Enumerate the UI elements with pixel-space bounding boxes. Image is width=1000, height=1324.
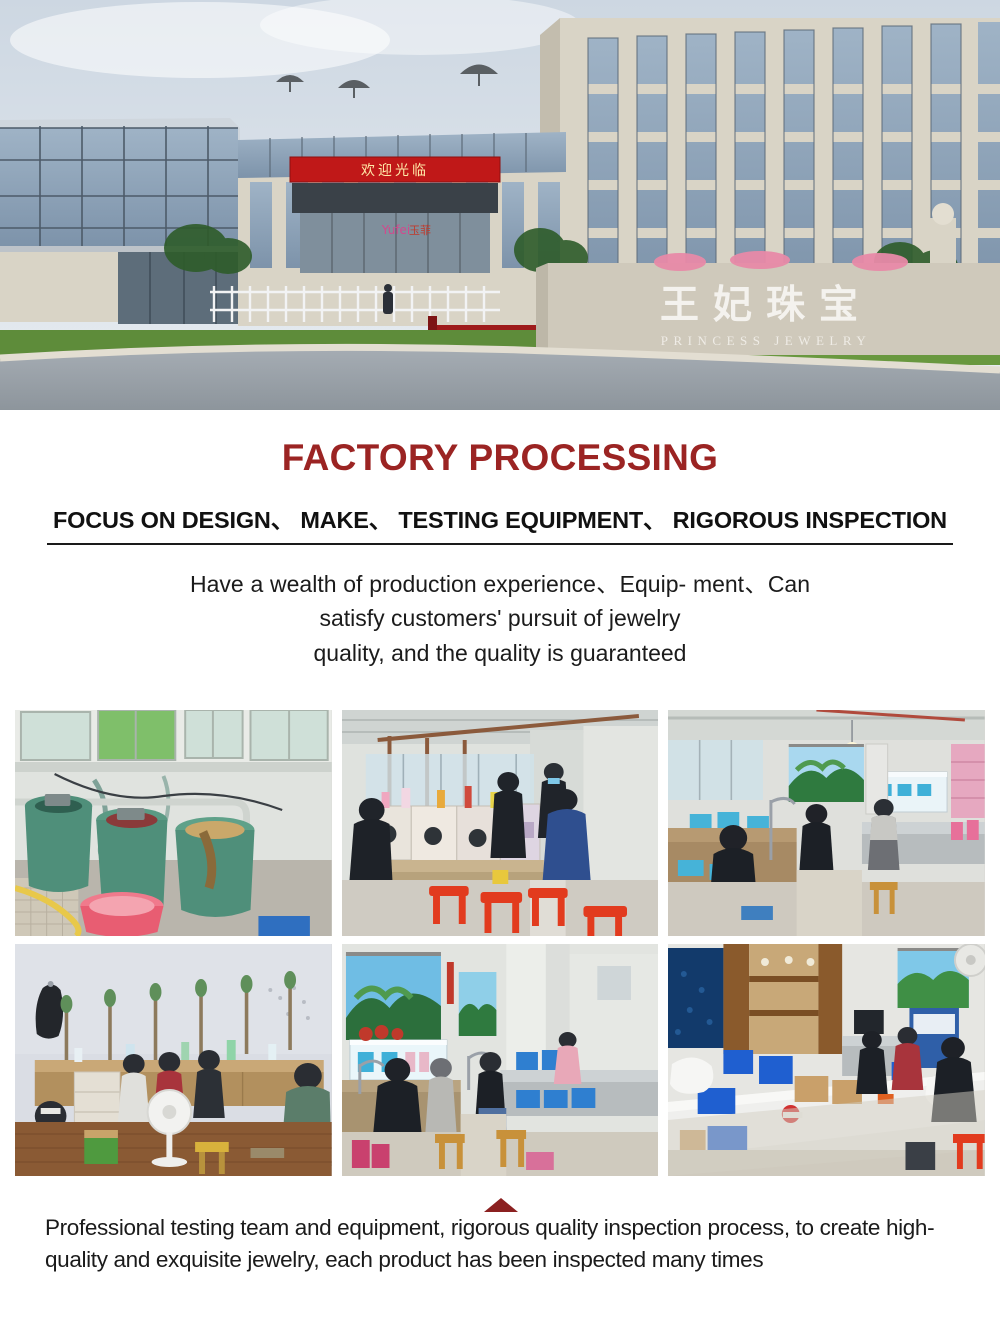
triangle-marker-icon xyxy=(484,1198,518,1212)
monument-sign: 王妃珠宝 PRINCESS JEWELRY xyxy=(536,251,1000,355)
factory-exterior-photo: 欢迎光临 Yufei 玉菲 xyxy=(0,0,1000,410)
sign-chinese: 王妃珠宝 xyxy=(660,283,872,328)
left-building xyxy=(0,118,240,324)
caption-line-3: many times xyxy=(652,1247,764,1272)
lead-paragraph: Have a wealth of production experience、E… xyxy=(190,567,810,671)
lead-line-1: Have a wealth of production experience、E… xyxy=(190,571,686,597)
photo-1-illustration xyxy=(15,710,332,936)
caption-line-1: Professional testing team and equipment,… xyxy=(45,1215,790,1240)
lead-line-3: quality, and the quality is guaranteed xyxy=(190,636,810,671)
hero-illustration: 欢迎光临 Yufei 玉菲 xyxy=(0,0,1000,410)
photo-packing-area[interactable] xyxy=(668,944,985,1176)
windows xyxy=(21,710,328,760)
page-title: FACTORY PROCESSING xyxy=(0,438,1000,479)
svg-text:玉菲: 玉菲 xyxy=(409,224,431,237)
person xyxy=(383,284,393,314)
caption-block: Professional testing team and equipment,… xyxy=(0,1198,1000,1276)
photo-bench-jewellers[interactable] xyxy=(15,944,332,1176)
photo-setting-room[interactable] xyxy=(668,710,985,936)
caption-text: Professional testing team and equipment,… xyxy=(45,1212,955,1276)
photo-casting-benches[interactable] xyxy=(342,710,659,936)
heading-block: FACTORY PROCESSING FOCUS ON DESIGN、 MAKE… xyxy=(0,410,1000,545)
photo-5-illustration xyxy=(342,944,659,1176)
photo-3-illustration xyxy=(668,710,985,936)
factory-photo-gallery xyxy=(15,710,985,1176)
photo-4-illustration xyxy=(15,944,332,1176)
page-subtitle: FOCUS ON DESIGN、 MAKE、 TESTING EQUIPMENT… xyxy=(47,501,953,535)
photo-2-illustration xyxy=(342,710,659,936)
welcome-banner: 欢迎光临 xyxy=(290,157,500,182)
svg-text:欢迎光临: 欢迎光临 xyxy=(361,163,429,179)
subtitle-rule: FOCUS ON DESIGN、 MAKE、 TESTING EQUIPMENT… xyxy=(47,501,953,545)
yufei-logo: Yufei xyxy=(381,223,411,237)
sign-english: PRINCESS JEWELRY xyxy=(661,333,871,348)
photo-polishing-tumblers[interactable] xyxy=(15,710,332,936)
factory-processing-page: 欢迎光临 Yufei 玉菲 xyxy=(0,0,1000,1324)
photo-6-illustration xyxy=(668,944,985,1176)
photo-qc-inspection[interactable] xyxy=(342,944,659,1176)
